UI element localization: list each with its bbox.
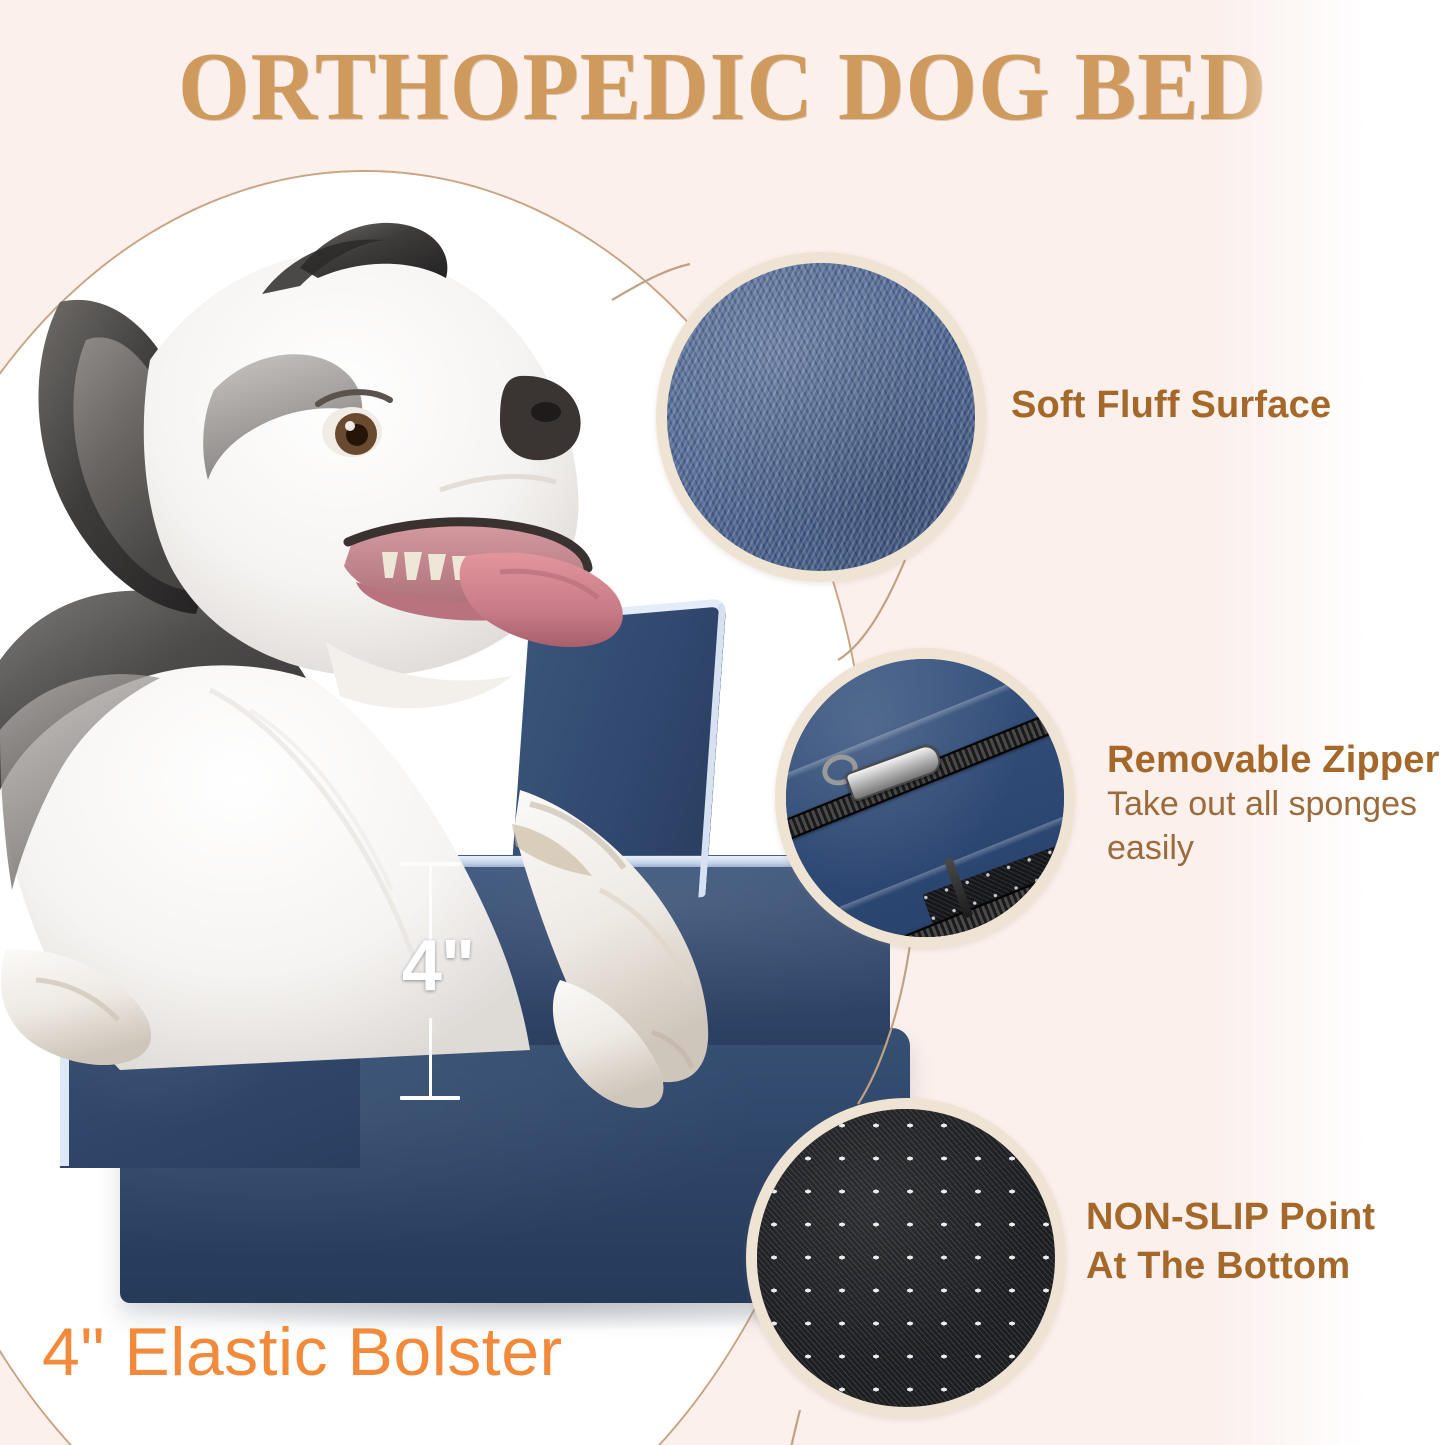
non-slip-dots-swatch [746,1098,1066,1418]
product-infographic-poster: ORTHOPEDIC DOG BED [0,0,1445,1445]
dog-photo [0,190,720,1110]
dimension-line-lower [429,1018,432,1098]
feature-heading-line-2: At The Bottom [1086,1242,1375,1291]
feature-heading: Soft Fluff Surface [1011,382,1331,428]
dimension-cap-bottom [400,1096,460,1100]
dimension-value-label: 4" [388,930,488,1002]
non-slip-texture [757,1109,1055,1407]
dog-paws [512,790,708,1108]
feature-heading-line-1: NON-SLIP Point [1086,1193,1375,1242]
feature-subtext: Take out all sponges easily [1107,783,1437,870]
page-title: ORTHOPEDIC DOG BED [36,38,1409,135]
zipper-detail-swatch [775,648,1075,948]
feature-label-non-slip-bottom: NON-SLIP Point At The Bottom [1086,1193,1375,1292]
feature-heading: Removable Zipper [1107,737,1440,783]
bolster-height-dimension-marker: 4" [392,862,468,1100]
feature-label-soft-fluff-surface: Soft Fluff Surface [1011,382,1331,428]
caption-elastic-bolster: 4" Elastic Bolster [42,1318,563,1386]
fluff-texture [667,263,975,571]
feature-label-removable-zipper: Removable Zipper Take out all sponges ea… [1107,737,1440,870]
fluff-fabric-swatch [656,252,986,582]
zipper-fabric-background [786,659,1064,937]
